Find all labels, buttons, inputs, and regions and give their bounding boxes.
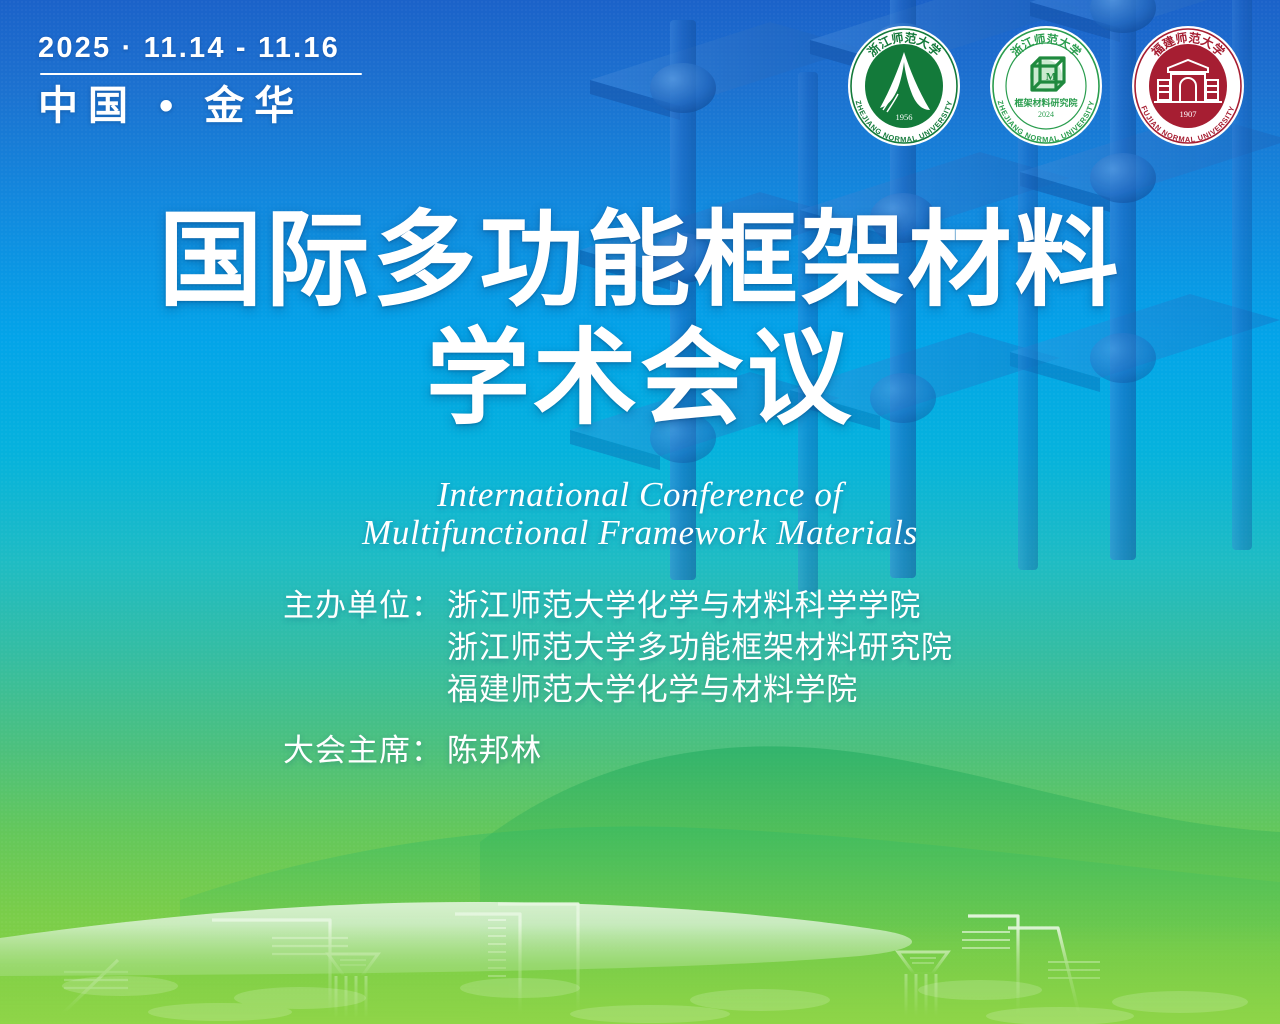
city-landscape-illustration [0,724,1280,1024]
conference-poster: 2025 · 11.14 - 11.16 中国 • 金华 1956 浙江师范大学… [0,0,1280,1024]
header-divider-rule [40,73,362,75]
event-city: 中国 • 金华 [38,83,362,129]
event-date-location-block: 2025 · 11.14 - 11.16 中国 • 金华 [38,30,362,129]
framework-materials-institute-logo-icon: M 框架材料研究院 2024 浙江师范大学 ZHEJIANG NORMAL UN… [982,22,1110,150]
svg-text:1956: 1956 [896,112,913,122]
organizer-item: 浙江师范大学化学与材料科学学院 [447,585,953,627]
organizer-list: 浙江师范大学化学与材料科学学院 浙江师范大学多功能框架材料研究院 福建师范大学化… [447,585,953,711]
organizer-label: 主办单位： [283,585,443,627]
organizer-item: 福建师范大学化学与材料学院 [447,669,953,711]
page-title-line-1: 国际多功能框架材料 [0,207,1280,315]
svg-text:M: M [1046,71,1057,83]
english-subtitle-line-2: Multifunctional Framework Materials [0,508,1280,557]
fujian-normal-university-logo-icon: 1907 福建师范大学 FUJIAN NORMAL UNIVERSITY [1124,22,1252,150]
university-logo-row: 1956 浙江师范大学 ZHEJIANG NORMAL UNIVERSITY [840,22,1252,150]
svg-text:框架材料研究院: 框架材料研究院 [1014,97,1077,108]
organizer-item: 浙江师范大学多功能框架材料研究院 [447,627,953,669]
zhejiang-normal-university-logo-icon: 1956 浙江师范大学 ZHEJIANG NORMAL UNIVERSITY [840,22,968,150]
svg-text:2024: 2024 [1038,110,1054,119]
page-title-line-2: 学术会议 [0,325,1280,433]
svg-text:1907: 1907 [1180,109,1197,119]
organizers-row: 主办单位： 浙江师范大学化学与材料科学学院 浙江师范大学多功能框架材料研究院 福… [283,585,953,711]
event-date: 2025 · 11.14 - 11.16 [38,30,362,66]
